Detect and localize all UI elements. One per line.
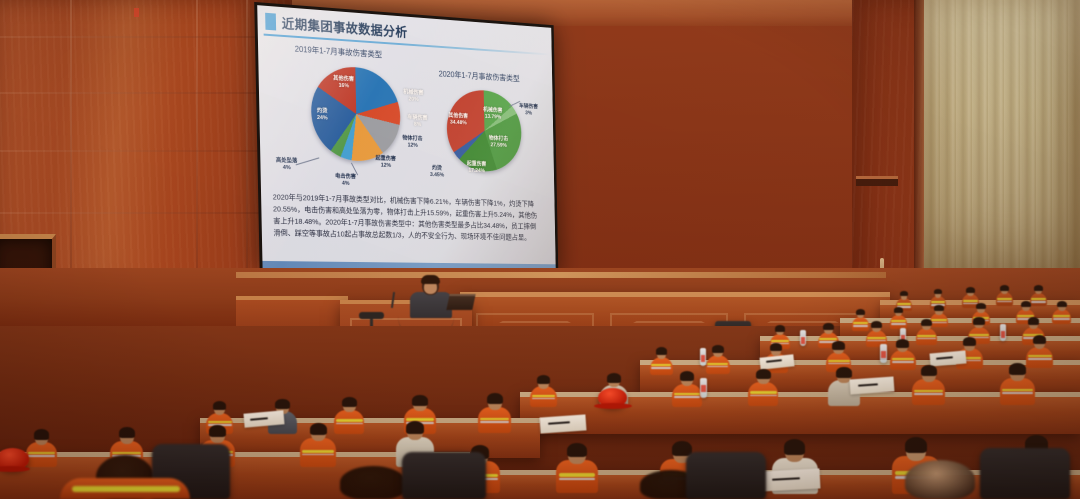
presenter-hair (421, 275, 440, 284)
reflective-stripe (969, 334, 988, 336)
reflective-stripe (707, 363, 728, 365)
reflective-stripe (1053, 318, 1070, 320)
audience-hair (894, 307, 903, 313)
audience-member (1000, 364, 1035, 408)
audience-hair (34, 429, 49, 440)
slide-paragraph: 2020年与2019年1-7月事故类型对比，机械伤害下降6.21%，车辆伤害下降… (273, 191, 549, 243)
charts-container: 2019年1-7月事故伤害类型 2020年1-7月事故伤害类型 机械伤害20%车… (264, 40, 555, 198)
reflective-stripe (891, 320, 906, 322)
reflective-stripe (931, 301, 945, 303)
audience-hair (406, 421, 424, 434)
audience-hair (1021, 301, 1031, 307)
reflective-stripe (112, 452, 141, 455)
audience-member (478, 394, 511, 436)
audience-hair (963, 337, 976, 346)
audience-hair (656, 347, 668, 355)
audience-hair (537, 375, 550, 384)
audience-hair (310, 423, 327, 435)
reflective-stripe (302, 450, 334, 453)
reflective-stripe (336, 423, 363, 425)
reflective-stripe (828, 363, 850, 365)
audience-hair (342, 397, 357, 407)
pie-slice-label: 高处坠落4% (276, 158, 298, 173)
audience-hair (775, 325, 785, 332)
slide-surface: 近期集团事故数据分析 2019年1-7月事故伤害类型 2020年1-7月事故伤害… (257, 5, 556, 273)
audience-member (26, 430, 57, 469)
safety-helmet-icon (598, 388, 627, 407)
pie-slice-label: 灼烫3.45% (430, 165, 444, 179)
foreground-chair[interactable] (402, 452, 486, 499)
water-bottle (880, 344, 887, 363)
audience-hair (1057, 301, 1067, 307)
reflective-stripe (917, 335, 936, 337)
audience-hair (905, 437, 927, 453)
audience-hair (275, 399, 289, 409)
reflective-stripe (897, 303, 911, 305)
pie-slice-label: 起重伤害12% (375, 156, 396, 170)
water-bottle (700, 348, 706, 366)
audience-hair (784, 439, 805, 455)
audience-hair (680, 371, 694, 381)
reflective-stripe (480, 421, 509, 423)
pie-slice-label: 机械伤害20% (403, 89, 423, 104)
audience-hair (832, 341, 845, 350)
audience-member (916, 320, 937, 347)
reflective-stripe (892, 358, 915, 360)
laptop-icon (446, 294, 475, 310)
reflective-stripe (892, 361, 915, 363)
foreground-audience-head (340, 466, 406, 499)
reflective-stripe (828, 360, 850, 362)
pie-chart-2020 (446, 88, 522, 173)
notebook-paper (539, 414, 586, 433)
audience-hair (896, 339, 909, 348)
reflective-stripe (559, 473, 596, 476)
reflective-stripe (480, 418, 509, 421)
title-accent-tab (265, 13, 276, 31)
window-curtain (924, 0, 1080, 300)
pie-slice-label: 车辆伤害3% (519, 104, 538, 118)
water-bottle (1000, 324, 1006, 341)
reflective-stripe (750, 391, 777, 393)
reflective-stripe (914, 393, 943, 395)
reflective-stripe (1031, 298, 1046, 300)
audience-hair (119, 427, 135, 438)
reflective-stripe (651, 364, 671, 366)
pie-slice-label: 物体打击12% (402, 136, 422, 150)
audience-hair (412, 395, 427, 406)
audience-member (334, 398, 364, 436)
audience-hair (1034, 285, 1043, 291)
stage-edge-trim (236, 272, 886, 278)
reflective-stripe (997, 298, 1012, 300)
reflective-stripe (72, 486, 180, 492)
reflective-stripe (336, 419, 363, 421)
audience-hair (871, 321, 882, 328)
reflective-stripe (963, 300, 978, 302)
chart-title-2020: 2020年1-7月事故伤害类型 (439, 69, 520, 84)
audience-hair (836, 367, 851, 378)
reflective-stripe (674, 393, 700, 395)
audience-hair (823, 323, 834, 330)
audience-member (890, 308, 907, 330)
audience-member (556, 444, 598, 497)
reflective-stripe (532, 398, 555, 400)
foreground-audience-head (905, 460, 975, 499)
pie-slice-label: 电击伤害4% (335, 174, 356, 188)
pie-slice-label: 车辆伤害8% (407, 115, 427, 129)
reflective-stripe (1028, 358, 1052, 360)
audience-hair (900, 291, 909, 296)
reflective-stripe (674, 396, 700, 398)
reflective-stripe (914, 390, 943, 393)
wall-vent (856, 176, 898, 186)
water-bottle (800, 330, 806, 346)
audience-hair (1009, 363, 1026, 375)
audience-member (650, 348, 673, 377)
audience-member (672, 372, 702, 409)
reflective-stripe (891, 323, 906, 325)
audience-member (996, 286, 1013, 307)
curtain-edge (914, 0, 924, 300)
reflective-stripe (559, 478, 596, 480)
reflective-stripe (532, 395, 555, 397)
audience-hair (921, 319, 932, 326)
pie-slice-label: 灼烫24% (317, 108, 328, 122)
water-bottle (700, 378, 707, 398)
audience-torso (748, 382, 778, 406)
audience-torso (530, 386, 557, 407)
audience-hair (1028, 317, 1040, 325)
audience-member (300, 424, 336, 470)
audience-hair (966, 287, 975, 293)
audience-hair (921, 365, 937, 376)
audience-member (530, 376, 557, 410)
audience-member (706, 346, 730, 376)
foreground-chair[interactable] (686, 452, 766, 499)
reflective-stripe (867, 340, 885, 342)
reflective-stripe (651, 367, 671, 369)
audience-hair (567, 443, 587, 457)
audience-hair (209, 425, 226, 437)
audience-torso (334, 410, 364, 434)
audience-hair (1000, 285, 1009, 291)
audience-hair (770, 343, 782, 351)
audience-hair (607, 373, 621, 383)
chart-title-2019: 2019年1-7月事故伤害类型 (295, 44, 383, 61)
audience-hair (934, 305, 944, 311)
reflective-stripe (406, 418, 434, 421)
presenter-torso (410, 292, 452, 318)
audience-hair (934, 289, 943, 294)
audience-hair (213, 401, 227, 410)
audience-hair (856, 309, 865, 315)
reflective-stripe (1002, 389, 1033, 392)
audience-hair (973, 317, 984, 325)
conference-hall-photo: 近期集团事故数据分析 2019年1-7月事故伤害类型 2020年1-7月事故伤害… (0, 0, 1080, 499)
audience-hair (712, 345, 724, 353)
pie-slice-label: 机械伤害13.79% (483, 107, 503, 121)
notebook-paper (760, 468, 821, 491)
audience-torso (556, 460, 598, 493)
presenter-person (408, 276, 454, 316)
audience-member (912, 366, 945, 408)
foreground-chair[interactable] (980, 448, 1070, 499)
reflective-stripe (28, 455, 55, 457)
safety-helmet-icon (0, 448, 29, 470)
reflective-stripe (867, 337, 885, 339)
audience-hair (976, 303, 986, 309)
audience-hair (487, 393, 503, 404)
reflective-stripe (1002, 392, 1033, 394)
reflective-stripe (750, 395, 777, 397)
pie-slice-label: 起重伤害17.24% (467, 161, 487, 175)
projection-screen: 近期集团事故数据分析 2019年1-7月事故伤害类型 2020年1-7月事故伤害… (254, 2, 558, 276)
reflective-stripe (707, 366, 728, 368)
audience-hair (1033, 335, 1047, 344)
pie-slice-label: 其他伤害16% (333, 76, 354, 91)
audience-member (1052, 302, 1071, 326)
reflective-stripe (771, 340, 788, 342)
audience-member (748, 370, 778, 408)
pie-slice-label: 物体打击27.59% (489, 136, 508, 150)
leader-line-1 (296, 157, 320, 165)
pie-slice-label: 其他伤害34.48% (448, 113, 468, 127)
audience-hair (756, 369, 771, 379)
